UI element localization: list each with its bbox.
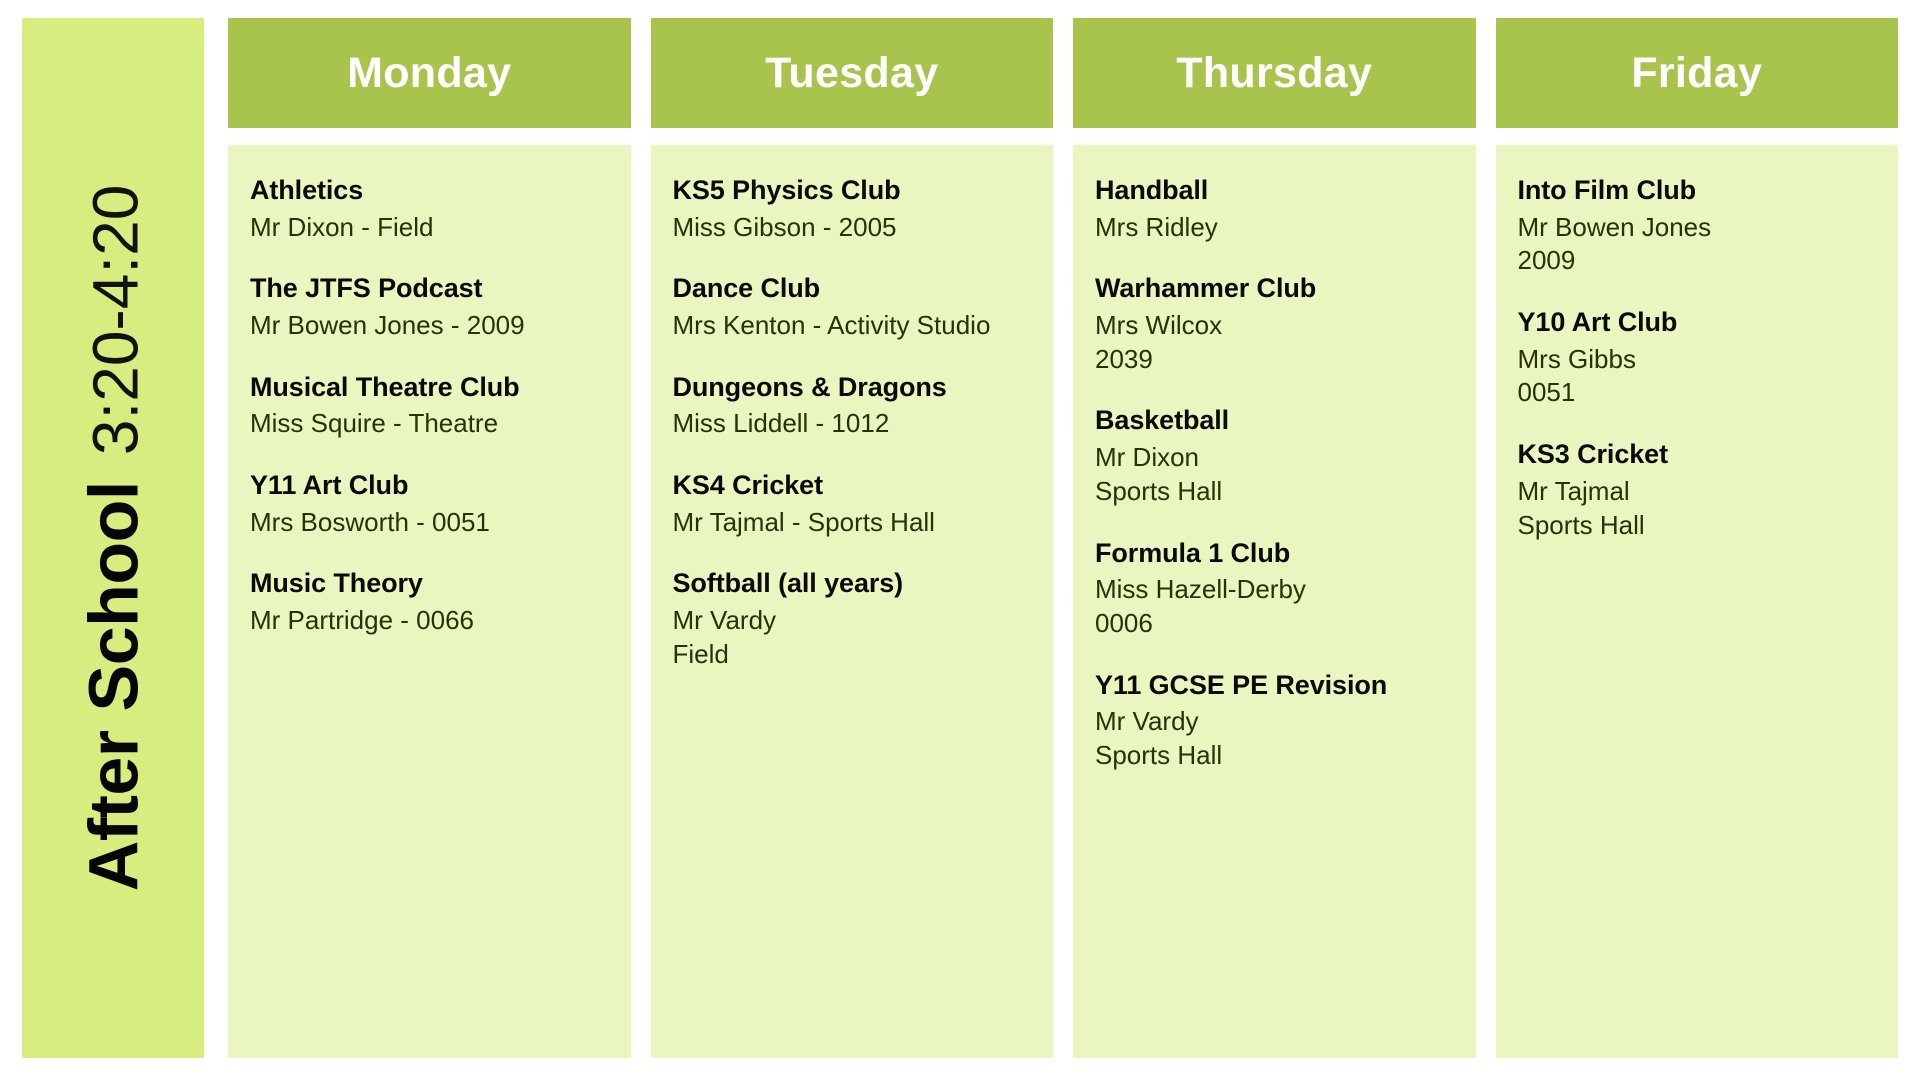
club-detail-line: Mr Partridge - 0066: [250, 604, 609, 638]
club-detail-line: Mr Tajmal - Sports Hall: [673, 506, 1032, 540]
club-detail-line: Mr Bowen Jones: [1518, 211, 1877, 245]
day-header-label: Tuesday: [765, 49, 938, 98]
club-entry[interactable]: Dungeons & DragonsMiss Liddell - 1012: [673, 370, 1032, 441]
time-slot-rail-text: After School 3:20-4:20: [78, 185, 148, 892]
club-detail-line: Sports Hall: [1095, 739, 1454, 773]
club-entry[interactable]: Into Film ClubMr Bowen Jones2009: [1518, 173, 1877, 278]
day-header-label: Monday: [347, 49, 511, 98]
after-school-timetable: After School 3:20-4:20 MondayAthleticsMr…: [0, 0, 1920, 1080]
club-name: Y11 GCSE PE Revision: [1095, 668, 1454, 703]
time-slot-time: 3:20-4:20: [83, 185, 147, 455]
day-header-tuesday[interactable]: Tuesday: [651, 18, 1054, 128]
club-entry[interactable]: Formula 1 ClubMiss Hazell-Derby0006: [1095, 536, 1454, 641]
club-name: Music Theory: [250, 566, 609, 601]
club-entry[interactable]: Dance ClubMrs Kenton - Activity Studio: [673, 271, 1032, 342]
club-detail-line: 0051: [1518, 376, 1877, 410]
club-name: Dance Club: [673, 271, 1032, 306]
club-entry[interactable]: BasketballMr DixonSports Hall: [1095, 403, 1454, 508]
day-columns: MondayAthleticsMr Dixon - FieldThe JTFS …: [228, 18, 1898, 1058]
club-detail-line: Mrs Kenton - Activity Studio: [673, 309, 1032, 343]
club-detail-line: Miss Squire - Theatre: [250, 407, 609, 441]
club-entry[interactable]: Y11 Art ClubMrs Bosworth - 0051: [250, 468, 609, 539]
club-entry[interactable]: Warhammer ClubMrs Wilcox2039: [1095, 271, 1454, 376]
club-entry[interactable]: AthleticsMr Dixon - Field: [250, 173, 609, 244]
club-name: Handball: [1095, 173, 1454, 208]
club-entry[interactable]: HandballMrs Ridley: [1095, 173, 1454, 244]
day-column-monday: MondayAthleticsMr Dixon - FieldThe JTFS …: [228, 18, 631, 1058]
club-entry[interactable]: KS5 Physics ClubMiss Gibson - 2005: [673, 173, 1032, 244]
day-header-thursday[interactable]: Thursday: [1073, 18, 1476, 128]
club-detail-line: Field: [673, 638, 1032, 672]
club-name: Athletics: [250, 173, 609, 208]
day-header-friday[interactable]: Friday: [1496, 18, 1899, 128]
club-entry[interactable]: Musical Theatre ClubMiss Squire - Theatr…: [250, 370, 609, 441]
club-detail-line: Mrs Bosworth - 0051: [250, 506, 609, 540]
club-detail-line: Mr Vardy: [1095, 705, 1454, 739]
club-entry[interactable]: Softball (all years)Mr VardyField: [673, 566, 1032, 671]
club-detail-line: 0006: [1095, 607, 1454, 641]
club-name: Formula 1 Club: [1095, 536, 1454, 571]
day-body-tuesday: KS5 Physics ClubMiss Gibson - 2005Dance …: [651, 145, 1054, 1058]
club-entry[interactable]: Music TheoryMr Partridge - 0066: [250, 566, 609, 637]
club-name: KS4 Cricket: [673, 468, 1032, 503]
club-name: Basketball: [1095, 403, 1454, 438]
club-name: Softball (all years): [673, 566, 1032, 601]
club-name: KS3 Cricket: [1518, 437, 1877, 472]
day-header-label: Thursday: [1176, 49, 1372, 98]
club-detail-line: Mr Bowen Jones - 2009: [250, 309, 609, 343]
time-slot-rail: After School 3:20-4:20: [22, 18, 204, 1058]
club-entry[interactable]: KS3 CricketMr TajmalSports Hall: [1518, 437, 1877, 542]
club-detail-line: Sports Hall: [1518, 509, 1877, 543]
club-name: Into Film Club: [1518, 173, 1877, 208]
club-detail-line: Miss Liddell - 1012: [673, 407, 1032, 441]
club-detail-line: Miss Hazell-Derby: [1095, 573, 1454, 607]
day-body-monday: AthleticsMr Dixon - FieldThe JTFS Podcas…: [228, 145, 631, 1058]
club-name: Y10 Art Club: [1518, 305, 1877, 340]
club-name: KS5 Physics Club: [673, 173, 1032, 208]
day-column-friday: FridayInto Film ClubMr Bowen Jones2009Y1…: [1496, 18, 1899, 1058]
club-detail-line: Mr Dixon - Field: [250, 211, 609, 245]
club-name: Y11 Art Club: [250, 468, 609, 503]
club-name: Dungeons & Dragons: [673, 370, 1032, 405]
club-detail-line: 2009: [1518, 244, 1877, 278]
day-header-label: Friday: [1631, 49, 1762, 98]
day-column-thursday: ThursdayHandballMrs RidleyWarhammer Club…: [1073, 18, 1476, 1058]
club-detail-line: Mrs Ridley: [1095, 211, 1454, 245]
day-header-monday[interactable]: Monday: [228, 18, 631, 128]
club-name: Musical Theatre Club: [250, 370, 609, 405]
club-entry[interactable]: Y11 GCSE PE RevisionMr VardySports Hall: [1095, 668, 1454, 773]
club-entry[interactable]: Y10 Art ClubMrs Gibbs0051: [1518, 305, 1877, 410]
club-detail-line: Mr Vardy: [673, 604, 1032, 638]
day-column-tuesday: TuesdayKS5 Physics ClubMiss Gibson - 200…: [651, 18, 1054, 1058]
club-entry[interactable]: KS4 CricketMr Tajmal - Sports Hall: [673, 468, 1032, 539]
club-detail-line: Mrs Gibbs: [1518, 343, 1877, 377]
club-detail-line: Mr Dixon: [1095, 441, 1454, 475]
club-detail-line: Miss Gibson - 2005: [673, 211, 1032, 245]
club-detail-line: 2039: [1095, 343, 1454, 377]
time-slot-label: After School: [78, 481, 148, 891]
club-name: The JTFS Podcast: [250, 271, 609, 306]
club-entry[interactable]: The JTFS PodcastMr Bowen Jones - 2009: [250, 271, 609, 342]
club-name: Warhammer Club: [1095, 271, 1454, 306]
club-detail-line: Sports Hall: [1095, 475, 1454, 509]
club-detail-line: Mr Tajmal: [1518, 475, 1877, 509]
day-body-friday: Into Film ClubMr Bowen Jones2009Y10 Art …: [1496, 145, 1899, 1058]
club-detail-line: Mrs Wilcox: [1095, 309, 1454, 343]
day-body-thursday: HandballMrs RidleyWarhammer ClubMrs Wilc…: [1073, 145, 1476, 1058]
